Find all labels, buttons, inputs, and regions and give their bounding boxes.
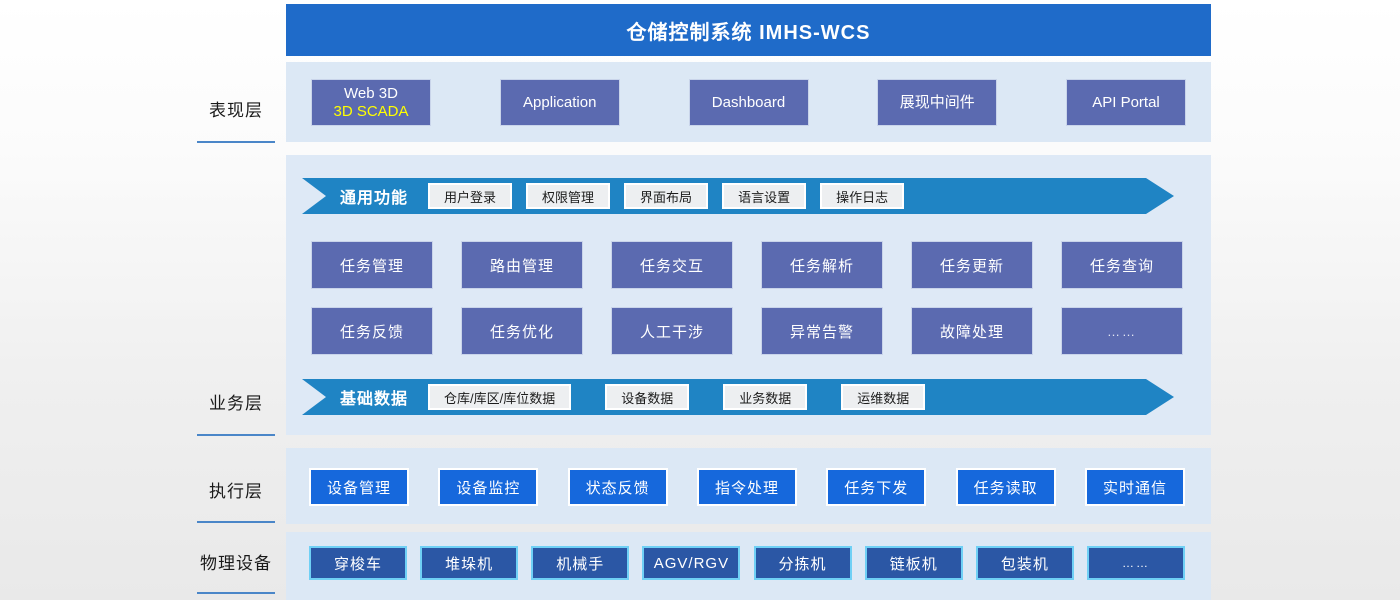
presentation-card-application[interactable]: Application: [500, 79, 620, 126]
physical-card-shuttle[interactable]: 穿梭车: [309, 546, 407, 580]
execution-card-instruction-processing[interactable]: 指令处理: [697, 468, 797, 506]
business-card-fault-handling[interactable]: 故障处理: [911, 307, 1033, 355]
chip-language-settings[interactable]: 语言设置: [722, 183, 806, 209]
chip-operation-log[interactable]: 操作日志: [820, 183, 904, 209]
execution-card-task-read[interactable]: 任务读取: [956, 468, 1056, 506]
chip-ui-layout[interactable]: 界面布局: [624, 183, 708, 209]
chip-equipment-data[interactable]: 设备数据: [605, 384, 689, 410]
execution-layer-row: 设备管理 设备监控 状态反馈 指令处理 任务下发 任务读取 实时通信: [309, 468, 1185, 506]
general-functions-chip-group: 用户登录 权限管理 界面布局 语言设置 操作日志: [428, 183, 904, 209]
business-card-route-management[interactable]: 路由管理: [461, 241, 583, 289]
rail-rule-physical: [197, 592, 275, 594]
execution-card-status-feedback[interactable]: 状态反馈: [568, 468, 668, 506]
business-card-task-parsing[interactable]: 任务解析: [761, 241, 883, 289]
business-feature-row-2: 任务反馈 任务优化 人工干涉 异常告警 故障处理 ……: [311, 307, 1183, 355]
chip-business-data[interactable]: 业务数据: [723, 384, 807, 410]
presentation-card-application-label: Application: [523, 94, 596, 111]
physical-card-robot-arm[interactable]: 机械手: [531, 546, 629, 580]
page-title: 仓储控制系统 IMHS-WCS: [627, 16, 871, 45]
general-functions-banner-title: 通用功能: [340, 184, 408, 208]
basic-data-banner-title: 基础数据: [340, 385, 408, 409]
business-card-task-feedback[interactable]: 任务反馈: [311, 307, 433, 355]
physical-device-row: 穿梭车 堆垛机 机械手 AGV/RGV 分拣机 链板机 包装机 ……: [309, 546, 1185, 580]
physical-card-sorter[interactable]: 分拣机: [754, 546, 852, 580]
chip-operation-maintenance-data[interactable]: 运维数据: [841, 384, 925, 410]
physical-card-chain-conveyor[interactable]: 链板机: [865, 546, 963, 580]
presentation-card-api-portal-label: API Portal: [1092, 94, 1160, 111]
presentation-card-web3d-label: Web 3D: [344, 85, 398, 102]
rail-label-presentation-text: 表现层: [209, 101, 263, 120]
business-card-exception-alarm[interactable]: 异常告警: [761, 307, 883, 355]
chip-user-login[interactable]: 用户登录: [428, 183, 512, 209]
system-title-bar: 仓储控制系统 IMHS-WCS: [286, 4, 1211, 56]
general-functions-banner: 通用功能 用户登录 权限管理 界面布局 语言设置 操作日志: [302, 178, 1174, 214]
business-card-task-update[interactable]: 任务更新: [911, 241, 1033, 289]
presentation-card-web3d[interactable]: Web 3D 3D SCADA: [311, 79, 431, 126]
execution-card-realtime-communication[interactable]: 实时通信: [1085, 468, 1185, 506]
rail-label-physical-text: 物理设备: [200, 554, 272, 573]
rail-label-execution: 执行层: [176, 477, 296, 502]
presentation-card-api-portal[interactable]: API Portal: [1066, 79, 1186, 126]
rail-label-presentation: 表现层: [176, 96, 296, 121]
basic-data-banner: 基础数据 仓库/库区/库位数据 设备数据 业务数据 运维数据: [302, 379, 1174, 415]
execution-card-equipment-management[interactable]: 设备管理: [309, 468, 409, 506]
presentation-card-dashboard-label: Dashboard: [712, 94, 785, 111]
execution-card-task-dispatch[interactable]: 任务下发: [826, 468, 926, 506]
presentation-layer-row: Web 3D 3D SCADA Application Dashboard 展现…: [311, 79, 1186, 126]
business-feature-row-1: 任务管理 路由管理 任务交互 任务解析 任务更新 任务查询: [311, 241, 1183, 289]
business-card-more[interactable]: ……: [1061, 307, 1183, 355]
rail-label-execution-text: 执行层: [209, 482, 263, 501]
rail-label-physical: 物理设备: [176, 549, 296, 574]
basic-data-chip-group: 仓库/库区/库位数据 设备数据 业务数据 运维数据: [428, 384, 925, 410]
rail-rule-presentation: [197, 141, 275, 143]
chip-permission-management[interactable]: 权限管理: [526, 183, 610, 209]
rail-label-business: 业务层: [176, 389, 296, 414]
presentation-card-middleware[interactable]: 展现中间件: [877, 79, 997, 126]
chip-warehouse-zone-location-data[interactable]: 仓库/库区/库位数据: [428, 384, 571, 410]
presentation-card-middleware-label: 展现中间件: [900, 94, 975, 111]
rail-rule-execution: [197, 521, 275, 523]
business-card-task-management[interactable]: 任务管理: [311, 241, 433, 289]
physical-card-packing-machine[interactable]: 包装机: [976, 546, 1074, 580]
rail-label-business-text: 业务层: [209, 394, 263, 413]
architecture-diagram: 表现层 业务层 执行层 物理设备 仓储控制系统 IMHS-WCS Web 3D …: [0, 0, 1400, 600]
presentation-card-dashboard[interactable]: Dashboard: [689, 79, 809, 126]
rail-rule-business: [197, 434, 275, 436]
business-card-task-interaction[interactable]: 任务交互: [611, 241, 733, 289]
execution-card-equipment-monitoring[interactable]: 设备监控: [438, 468, 538, 506]
business-card-task-optimization[interactable]: 任务优化: [461, 307, 583, 355]
business-card-manual-intervention[interactable]: 人工干涉: [611, 307, 733, 355]
physical-card-more[interactable]: ……: [1087, 546, 1185, 580]
physical-card-agv-rgv[interactable]: AGV/RGV: [642, 546, 740, 580]
physical-card-stacker-crane[interactable]: 堆垛机: [420, 546, 518, 580]
business-card-task-query[interactable]: 任务查询: [1061, 241, 1183, 289]
presentation-card-web3d-sublabel: 3D SCADA: [333, 103, 408, 120]
